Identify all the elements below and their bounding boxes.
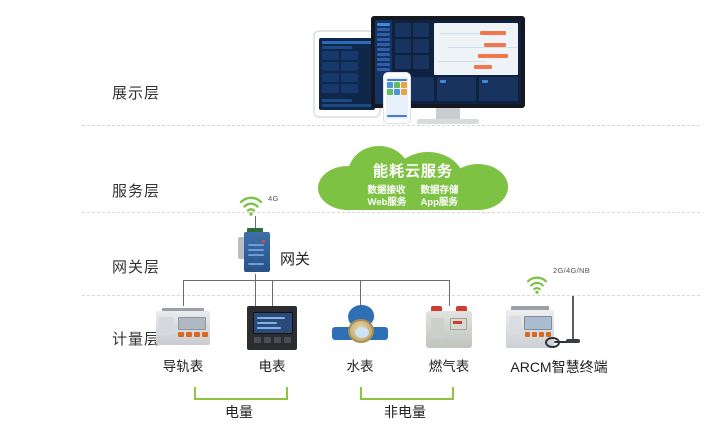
gas-meter-label: 燃气表 xyxy=(409,355,489,375)
bracket-label-non-electric: 非电量 xyxy=(360,402,450,422)
cloud-service: 能耗云服务 数据接收 Web服务 数据存储 App服务 xyxy=(318,146,508,210)
wifi-icon xyxy=(238,196,264,216)
water-meter xyxy=(332,305,388,349)
electricity-meter-icon xyxy=(247,306,297,350)
gateway-label: 网关 xyxy=(280,248,310,269)
drop-line-electricity xyxy=(272,280,273,306)
metering-bus-line xyxy=(183,280,449,281)
gas-meter-icon xyxy=(426,306,472,348)
divider-display-service xyxy=(82,125,700,126)
layer-label-metering: 计量层 xyxy=(112,328,160,349)
arcm-uplink-label: 2G/4G/NB xyxy=(553,266,590,275)
water-meter-icon xyxy=(332,305,388,349)
monitor-stand-base xyxy=(417,119,479,124)
gateway-uplink-label: 4G xyxy=(268,194,279,203)
drop-line-din-rail xyxy=(183,280,184,306)
gateway-device xyxy=(238,228,274,274)
bracket-label-electric: 电量 xyxy=(194,402,284,422)
cloud-column-receive: 数据接收 Web服务 xyxy=(368,185,407,209)
cloud-text-block: 能耗云服务 数据接收 Web服务 数据存储 App服务 xyxy=(318,160,508,209)
phone-screen xyxy=(386,77,408,119)
drop-line-water xyxy=(360,280,361,306)
din-rail-meter-label: 导轨表 xyxy=(143,355,223,375)
dashboard-stat-cards xyxy=(395,23,431,75)
cloud-title: 能耗云服务 xyxy=(318,160,508,181)
gas-meter xyxy=(426,306,472,348)
bracket-electric xyxy=(194,387,288,400)
din-rail-meter xyxy=(156,308,210,348)
dashboard-bottom-cards xyxy=(395,77,518,101)
divider-service-gateway xyxy=(82,212,700,213)
antenna-base-icon xyxy=(566,339,580,343)
arcm-terminal-label: ARCM智慧终端 xyxy=(494,357,624,377)
antenna-rod-icon xyxy=(572,296,574,340)
layer-label-service: 服务层 xyxy=(112,180,160,201)
link-gateway-cloud xyxy=(255,216,256,228)
layer-label-gateway: 网关层 xyxy=(112,256,160,277)
monitor-stand-neck xyxy=(436,108,460,119)
electricity-meter xyxy=(247,306,297,350)
smartphone-device xyxy=(383,72,411,124)
arcm-wifi-icon xyxy=(525,276,549,294)
water-meter-label: 水表 xyxy=(320,355,400,375)
dashboard-map-panel xyxy=(434,23,518,75)
tablet-screen xyxy=(319,38,375,110)
architecture-diagram: 展示层 服务层 网关层 计量层 xyxy=(0,0,715,443)
antenna-connector-icon xyxy=(545,337,560,348)
cloud-column-storage: 数据存储 App服务 xyxy=(420,185,458,209)
drop-line-gas xyxy=(449,280,450,306)
bracket-non-electric xyxy=(360,387,454,400)
divider-gateway-metering xyxy=(82,295,700,296)
electricity-meter-label: 电表 xyxy=(232,355,312,375)
din-rail-meter-icon xyxy=(156,308,210,348)
layer-label-display: 展示层 xyxy=(112,82,160,103)
